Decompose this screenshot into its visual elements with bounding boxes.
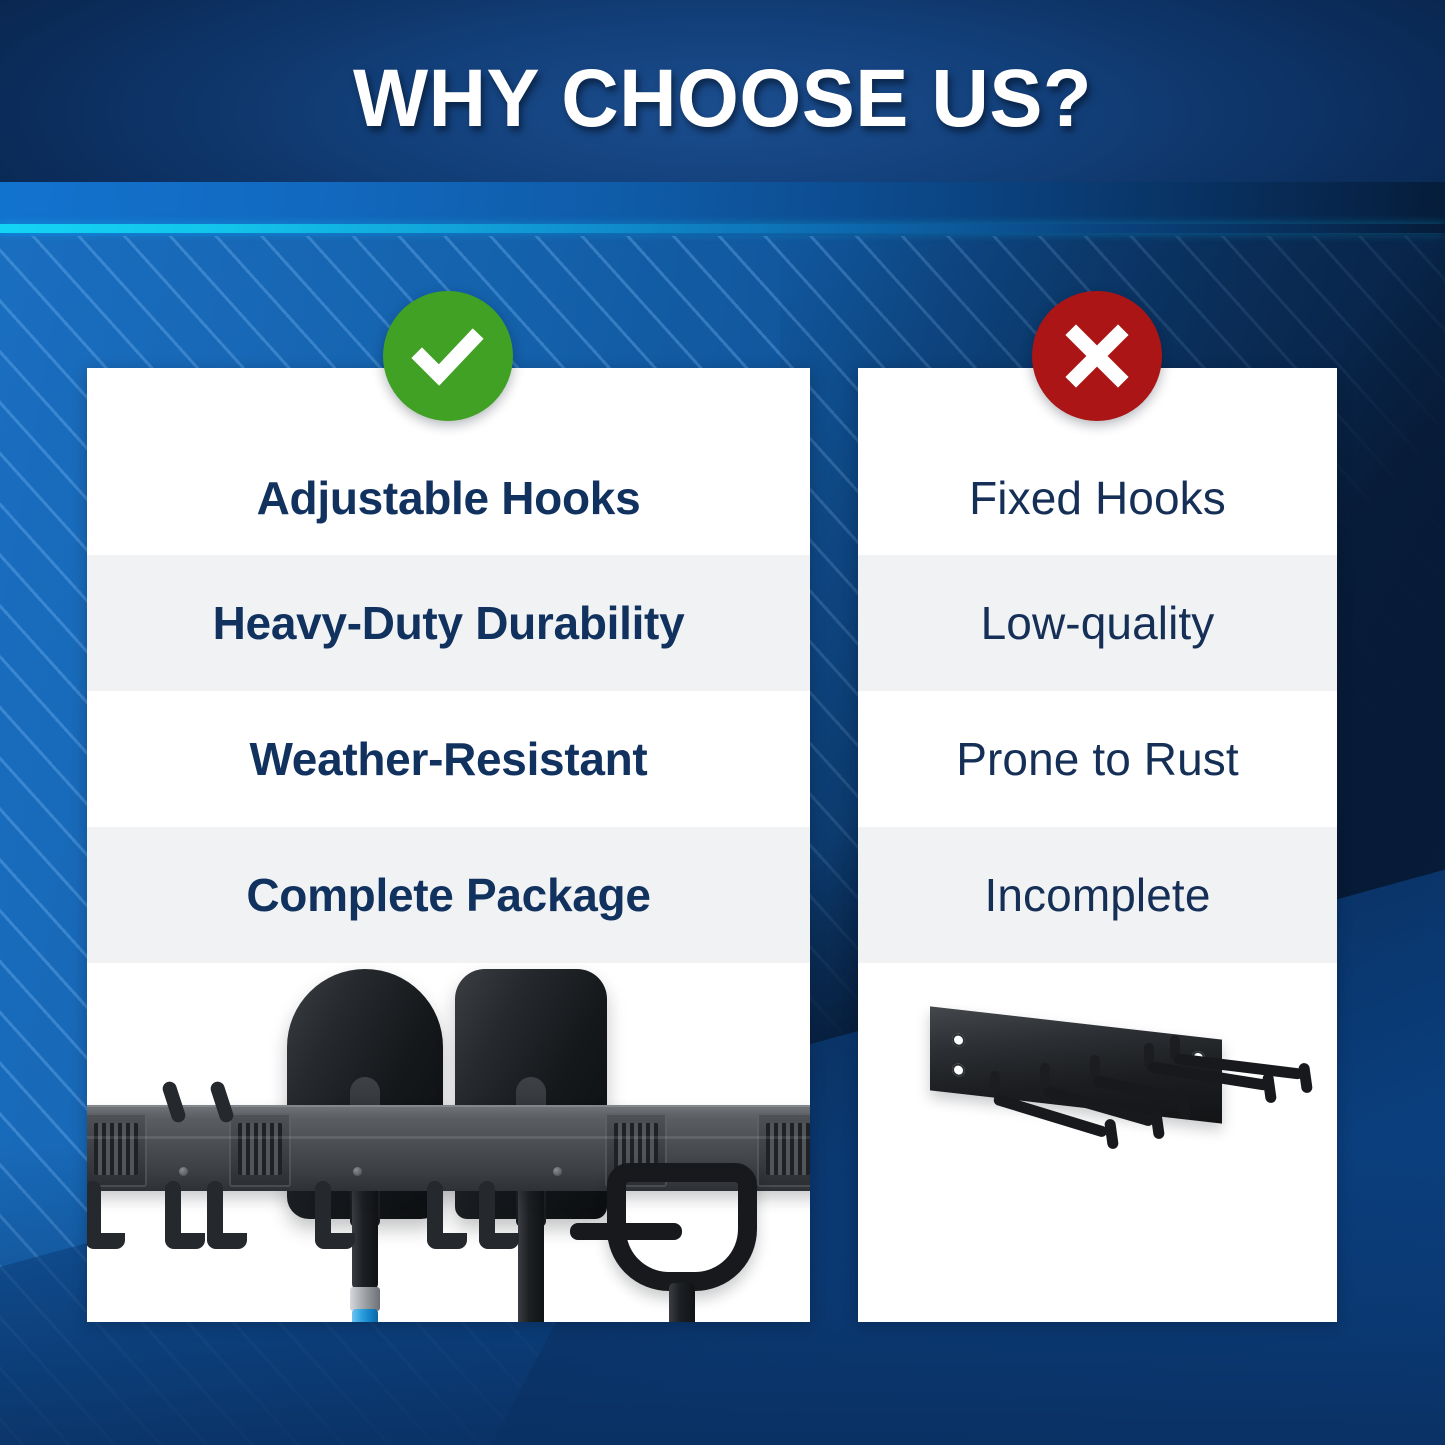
con-comparison-card: Fixed Hooks Low-quality Prone to Rust In… xyxy=(858,368,1337,1322)
pro-feature-label: Heavy-Duty Durability xyxy=(213,600,685,646)
rail-clamp xyxy=(229,1113,291,1187)
rail-hook-j xyxy=(479,1181,495,1247)
mounting-hole xyxy=(952,1063,965,1077)
pro-feature-list: Adjustable Hooks Heavy-Duty Durability W… xyxy=(87,368,810,963)
rail-screw xyxy=(179,1167,188,1176)
pro-feature-label: Complete Package xyxy=(246,872,650,918)
fixed-hook-tip xyxy=(1104,1118,1119,1149)
pro-comparison-card: Adjustable Hooks Heavy-Duty Durability W… xyxy=(87,368,810,1322)
rail-clamp xyxy=(87,1113,147,1187)
tool-shaft xyxy=(669,1283,695,1322)
check-icon xyxy=(410,318,486,394)
con-feature-label: Fixed Hooks xyxy=(969,475,1226,521)
rail-hook-j xyxy=(315,1181,331,1247)
cross-icon xyxy=(1062,321,1132,391)
table-row: Prone to Rust xyxy=(858,691,1337,827)
table-row: Low-quality xyxy=(858,555,1337,691)
rail-hook-j xyxy=(427,1181,443,1247)
fixed-hook-stub xyxy=(990,1071,1000,1097)
rail-clamp xyxy=(757,1113,810,1187)
rail-screw xyxy=(353,1167,362,1176)
fixed-hook-tip xyxy=(1262,1072,1277,1103)
rail-screw xyxy=(553,1167,562,1176)
rail-hook-j xyxy=(207,1181,223,1247)
pro-product-image xyxy=(87,963,810,1322)
con-product-image xyxy=(858,963,1337,1322)
header-cyan-line xyxy=(0,224,1445,233)
cross-badge xyxy=(1032,291,1162,421)
pro-feature-label: Weather-Resistant xyxy=(250,736,648,782)
table-row: Weather-Resistant xyxy=(87,691,810,827)
con-feature-label: Prone to Rust xyxy=(956,736,1239,782)
con-feature-list: Fixed Hooks Low-quality Prone to Rust In… xyxy=(858,368,1337,963)
fixed-hook-tip xyxy=(1298,1062,1313,1093)
fixed-hook-rack xyxy=(858,963,1337,1322)
rail-hook-j xyxy=(87,1181,101,1247)
pro-feature-label: Adjustable Hooks xyxy=(257,475,641,521)
table-row: Heavy-Duty Durability xyxy=(87,555,810,691)
table-row: Incomplete xyxy=(858,827,1337,963)
shovel-shaft xyxy=(518,1169,544,1322)
page-title: WHY CHOOSE US? xyxy=(22,52,1424,146)
table-row: Complete Package xyxy=(87,827,810,963)
rail-hook-j xyxy=(165,1181,181,1247)
shovel-handle-blue xyxy=(352,1309,378,1322)
shovel-ferrule xyxy=(350,1287,380,1311)
con-feature-label: Low-quality xyxy=(981,600,1215,646)
check-badge xyxy=(383,291,513,421)
fixed-hook-stub xyxy=(1040,1063,1050,1089)
d-handle-crossbar xyxy=(570,1223,682,1240)
comparison-graphic: WHY CHOOSE US? Adjustable Hooks Heavy-Du… xyxy=(0,0,1445,1445)
header-band-shadow xyxy=(0,233,1445,249)
mounting-hole xyxy=(952,1033,965,1047)
con-feature-label: Incomplete xyxy=(984,872,1210,918)
header-banner: WHY CHOOSE US? xyxy=(0,0,1445,182)
